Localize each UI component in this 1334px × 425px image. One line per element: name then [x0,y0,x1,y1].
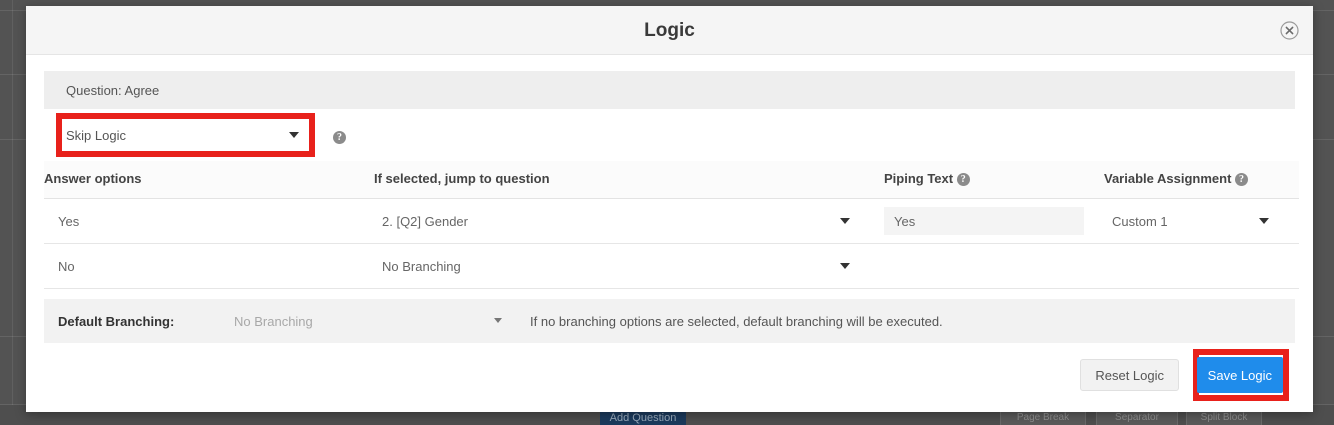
table-header-row: Answer options If selected, jump to ques… [44,161,1299,199]
page-break-button[interactable]: Page Break [1000,411,1086,425]
table-row: No No Branching [44,244,1299,289]
answer-option-value: Yes [44,199,374,244]
column-header-answer-options: Answer options [44,161,374,199]
default-branching-hint: If no branching options are selected, de… [530,314,943,329]
page-title: Logic [26,20,1313,42]
chevron-down-icon [289,132,299,138]
piping-text-cell [884,199,1104,244]
column-header-variable-assignment: Variable Assignment ? [1104,161,1299,199]
jump-to-question-select[interactable]: No Branching [374,244,884,289]
logic-type-value: Skip Logic [66,128,126,143]
piping-text-cell [884,244,1104,289]
chevron-down-icon [840,263,850,269]
jump-to-question-value: No Branching [374,259,461,274]
variable-assignment-cell [1104,244,1299,289]
modal-body: Question: Agree Skip Logic ? Answer opti… [26,71,1313,413]
table-row: Yes 2. [Q2] Gender Custom 1 [44,199,1299,244]
jump-to-question-select[interactable]: 2. [Q2] Gender [374,199,884,244]
separator-button[interactable]: Separator [1096,411,1178,425]
chevron-down-icon [1259,218,1269,224]
piping-text-input[interactable] [884,207,1084,235]
piping-text-help-icon[interactable]: ? [957,173,970,186]
default-branching-value: No Branching [234,314,313,329]
logic-type-help-icon[interactable]: ? [333,129,346,147]
add-question-button[interactable]: Add Question [600,411,686,425]
variable-assignment-select[interactable]: Custom 1 [1104,199,1299,244]
save-logic-button[interactable]: Save Logic [1197,357,1283,393]
logic-table: Answer options If selected, jump to ques… [44,161,1299,289]
variable-assignment-label: Variable Assignment [1104,171,1231,186]
logic-type-select[interactable]: Skip Logic [66,121,305,149]
column-header-piping-text: Piping Text ? [884,161,1104,199]
modal-footer: Reset Logic Save Logic [44,343,1295,413]
logic-modal: Logic Question: Agree Skip Logic ? [26,6,1313,412]
chevron-down-icon [494,318,502,323]
question-bar: Question: Agree [44,71,1295,109]
variable-assignment-value: Custom 1 [1104,214,1168,229]
reset-logic-button[interactable]: Reset Logic [1080,359,1179,391]
jump-to-question-value: 2. [Q2] Gender [374,214,468,229]
column-header-jump-to-question: If selected, jump to question [374,161,884,199]
chevron-down-icon [840,218,850,224]
split-block-button[interactable]: Split Block [1186,411,1262,425]
close-icon[interactable] [1280,21,1299,40]
variable-assignment-help-icon[interactable]: ? [1235,173,1248,186]
modal-header: Logic [26,6,1313,55]
backdrop-divider [12,0,13,425]
default-branching-row: Default Branching: No Branching If no br… [44,299,1295,343]
question-label: Question: Agree [66,83,159,98]
default-branching-select[interactable]: No Branching [234,299,514,343]
logic-type-row: Skip Logic ? [44,109,1295,161]
piping-text-label: Piping Text [884,171,953,186]
answer-option-value: No [44,244,374,289]
default-branching-label: Default Branching: [44,314,174,329]
